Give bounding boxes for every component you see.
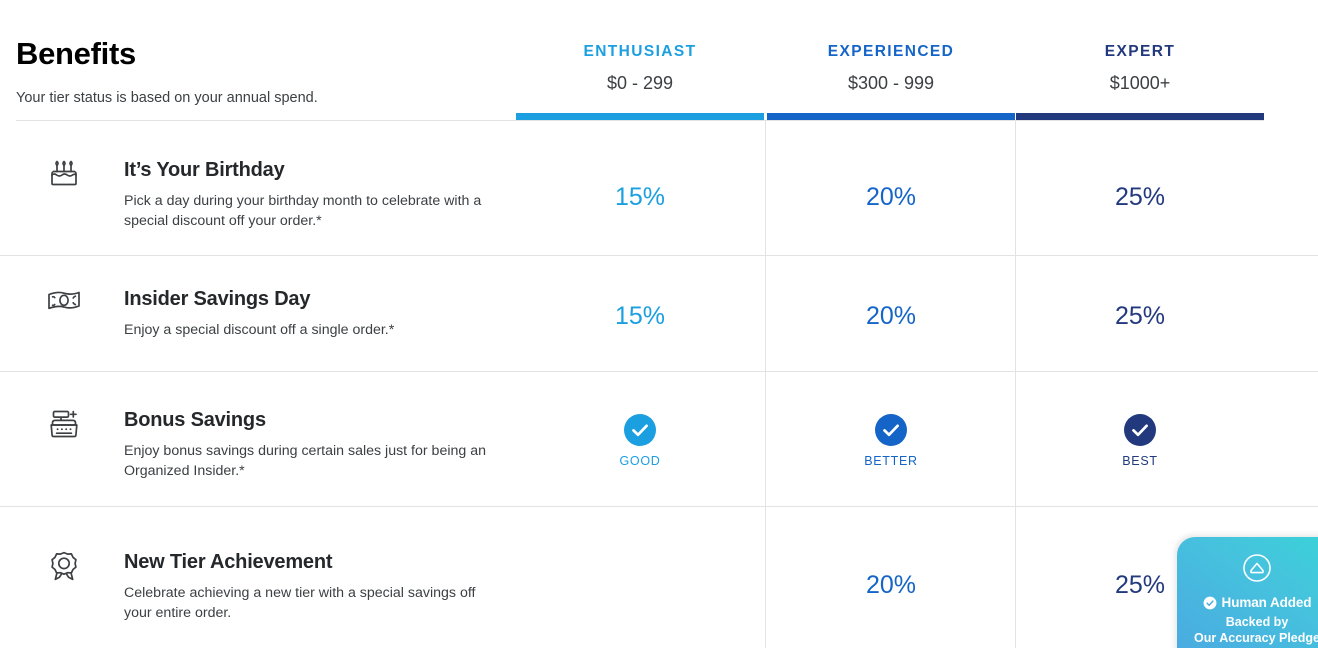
benefit-row: New Tier AchievementCelebrate achieving … [0, 507, 1318, 648]
human-added-subtext: Backed by Our Accuracy Pledge [1177, 610, 1318, 646]
money-bill-icon [42, 278, 86, 322]
tier-header-experienced: EXPERIENCED $300 - 999 [767, 44, 1015, 92]
benefit-description: Enjoy bonus savings during certain sales… [124, 432, 496, 481]
benefits-tier-page: Benefits Your tier status is based on yo… [0, 0, 1318, 648]
benefit-title: It’s Your Birthday [124, 159, 504, 182]
tier-range: $0 - 299 [516, 60, 764, 92]
benefit-description: Enjoy a special discount off a single or… [124, 311, 496, 340]
benefit-description: Celebrate achieving a new tier with a sp… [124, 574, 496, 623]
percent-value: 15% [615, 183, 665, 211]
percent-value: 25% [1115, 183, 1165, 211]
benefit-title: New Tier Achievement [124, 551, 504, 574]
check-circle-icon [1203, 596, 1217, 610]
benefit-value-cell: BETTER [767, 414, 1015, 468]
check-circle-icon [624, 414, 656, 446]
benefit-value-cell: 20% [767, 304, 1015, 329]
human-added-badge: Human Added Backed by Our Accuracy Pledg… [1177, 537, 1318, 648]
page-subtitle: Your tier status is based on your annual… [16, 89, 318, 108]
tier-range: $300 - 999 [767, 60, 1015, 92]
tier-range: $1000+ [1016, 60, 1264, 92]
award-medal-icon [42, 544, 86, 588]
benefits-table: It’s Your BirthdayPick a day during your… [0, 121, 1318, 648]
tier-name: ENTHUSIAST [516, 44, 764, 60]
benefit-text-block: Bonus SavingsEnjoy bonus savings during … [124, 409, 504, 481]
birthday-cake-icon [42, 152, 86, 196]
human-added-subtext-line2: Our Accuracy Pledge [1177, 630, 1318, 646]
tier-quality-label: BETTER [864, 446, 918, 468]
percent-value: 20% [866, 302, 916, 330]
benefit-row: Insider Savings DayEnjoy a special disco… [0, 256, 1318, 372]
check-circle-icon [1124, 414, 1156, 446]
tier-header-expert: EXPERT $1000+ [1016, 44, 1264, 92]
tier-quality-label: GOOD [620, 446, 661, 468]
benefit-title: Insider Savings Day [124, 288, 504, 311]
benefit-value-cell: GOOD [516, 414, 764, 468]
benefit-title: Bonus Savings [124, 409, 504, 432]
check-circle-icon [875, 414, 907, 446]
percent-value: 20% [866, 183, 916, 211]
cash-register-plus-icon [42, 402, 86, 446]
percent-value: 15% [615, 302, 665, 330]
benefit-text-block: Insider Savings DayEnjoy a special disco… [124, 288, 504, 340]
house-logo-icon [1177, 547, 1318, 584]
human-added-label-row: Human Added [1177, 584, 1318, 610]
tier-quality-label: BEST [1122, 446, 1157, 468]
percent-value: 25% [1115, 302, 1165, 330]
benefit-value-cell: 20% [767, 573, 1015, 598]
tier-header-enthusiast: ENTHUSIAST $0 - 299 [516, 44, 764, 92]
benefit-value-cell: BEST [1016, 414, 1264, 468]
percent-value: 20% [866, 571, 916, 599]
percent-value: 25% [1115, 571, 1165, 599]
benefit-text-block: New Tier AchievementCelebrate achieving … [124, 551, 504, 623]
benefit-value-cell: 15% [516, 185, 764, 210]
tier-name: EXPERT [1016, 44, 1264, 60]
human-added-text: Human Added [1222, 595, 1312, 610]
benefits-header: Benefits Your tier status is based on yo… [0, 0, 1318, 121]
benefit-value-cell: 15% [516, 304, 764, 329]
benefit-row: It’s Your BirthdayPick a day during your… [0, 121, 1318, 256]
page-title: Benefits [16, 38, 136, 69]
benefit-value-cell: 25% [1016, 304, 1264, 329]
human-added-subtext-line1: Backed by [1177, 614, 1318, 630]
tier-name: EXPERIENCED [767, 44, 1015, 60]
benefit-row: Bonus SavingsEnjoy bonus savings during … [0, 372, 1318, 507]
benefit-value-cell: 20% [767, 185, 1015, 210]
benefit-description: Pick a day during your birthday month to… [124, 182, 496, 231]
benefit-text-block: It’s Your BirthdayPick a day during your… [124, 159, 504, 231]
benefit-value-cell: 25% [1016, 185, 1264, 210]
